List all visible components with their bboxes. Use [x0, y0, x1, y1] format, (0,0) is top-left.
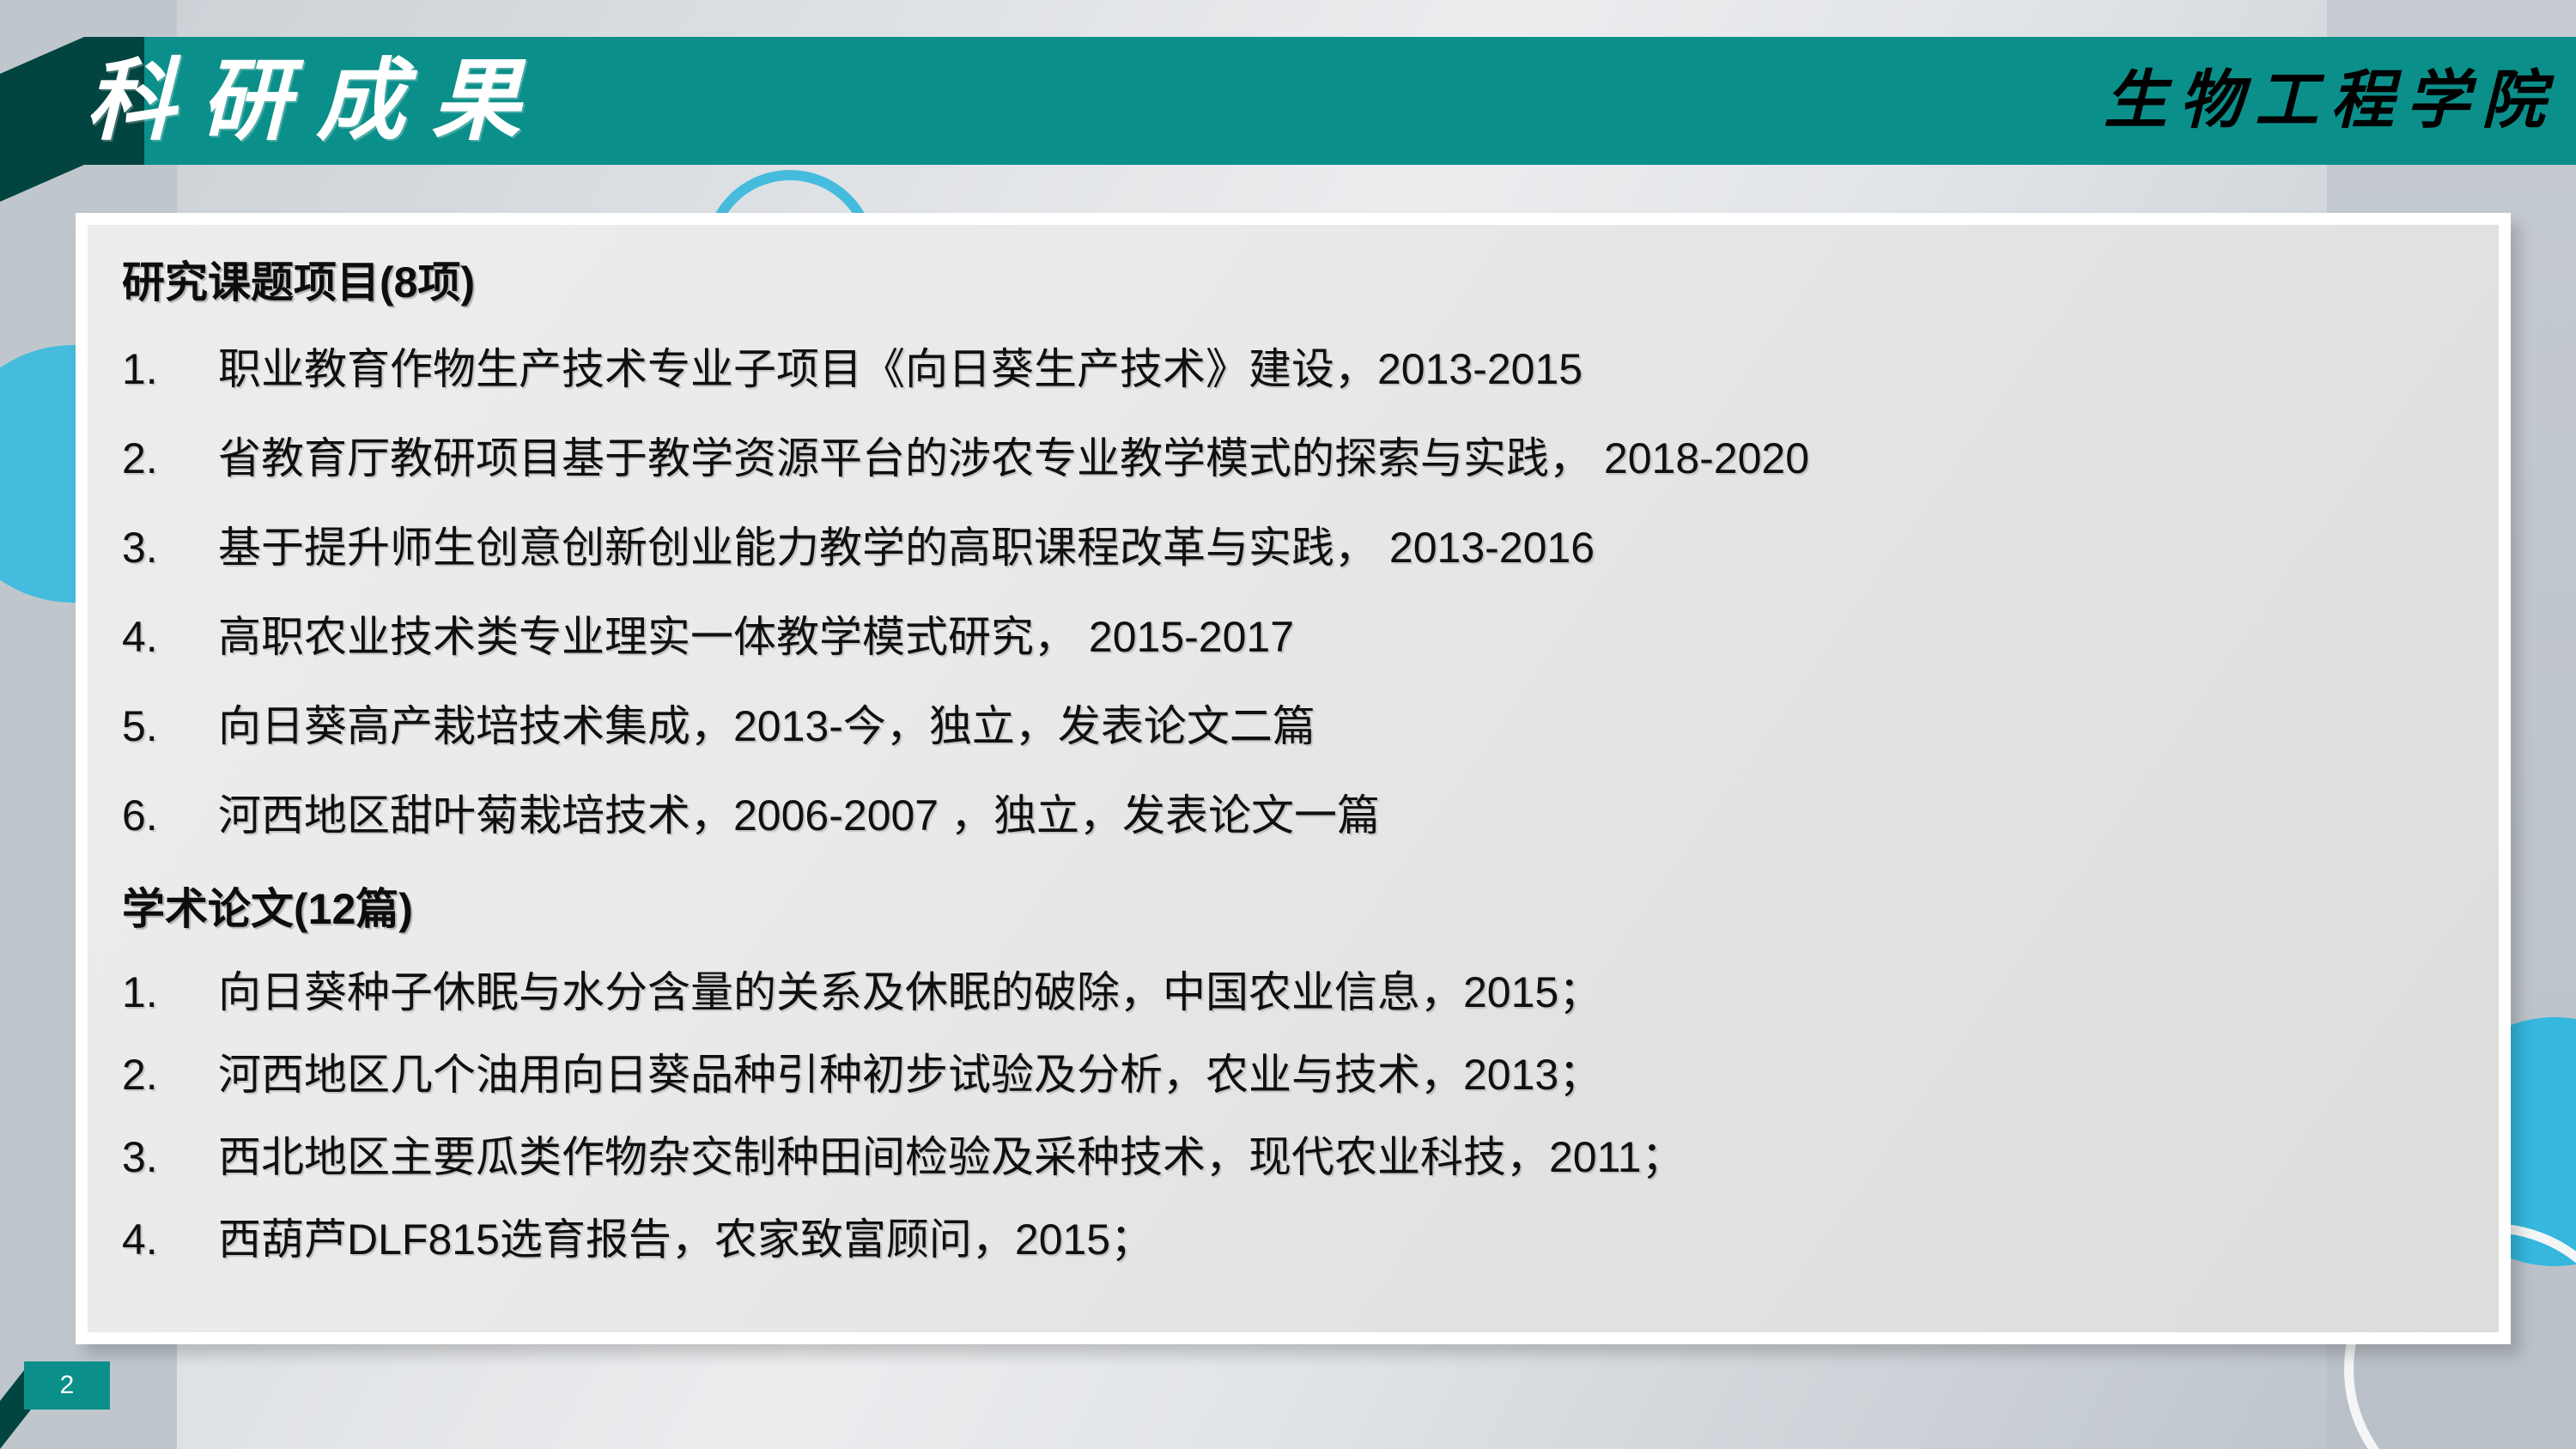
list-item-marker: 6.	[122, 771, 218, 860]
list-item-text: 河西地区几个油用向日葵品种引种初步试验及分析，农业与技术，2013；	[218, 1034, 2478, 1116]
list-item-marker: 2.	[122, 1034, 218, 1116]
list-item-marker: 5.	[122, 682, 218, 771]
content-card-inner: 研究课题项目(8项) 1. 职业教育作物生产技术专业子项目《向日葵生产技术》建设…	[88, 225, 2499, 1332]
content-body: 研究课题项目(8项) 1. 职业教育作物生产技术专业子项目《向日葵生产技术》建设…	[122, 246, 2478, 1281]
paper-list: 1. 向日葵种子休眠与水分含量的关系及休眠的破除，中国农业信息，2015； 2.…	[122, 951, 2478, 1281]
list-item-text: 西北地区主要瓜类作物杂交制种田间检验及采种技术，现代农业科技，2011；	[218, 1116, 2478, 1198]
list-item-text: 基于提升师生创意创新创业能力教学的高职课程改革与实践， 2013-2016	[218, 503, 2478, 592]
list-item-marker: 2.	[122, 414, 218, 503]
list-item-marker: 4.	[122, 1198, 218, 1281]
section-heading-projects: 研究课题项目(8项)	[122, 246, 2478, 319]
list-item: 5. 向日葵高产栽培技术集成，2013-今，独立，发表论文二篇	[122, 682, 2478, 771]
list-item-text: 职业教育作物生产技术专业子项目《向日葵生产技术》建设，2013-2015	[218, 324, 2478, 414]
list-item-marker: 3.	[122, 503, 218, 592]
list-item-text: 省教育厅教研项目基于教学资源平台的涉农专业教学模式的探索与实践， 2018-20…	[218, 414, 2478, 503]
list-item: 4. 高职农业技术类专业理实一体教学模式研究， 2015-2017	[122, 592, 2478, 682]
page-number-badge: 2	[24, 1361, 110, 1410]
section-heading-papers: 学术论文(12篇)	[122, 872, 2478, 946]
list-item: 1. 职业教育作物生产技术专业子项目《向日葵生产技术》建设，2013-2015	[122, 324, 2478, 414]
list-item-text: 向日葵高产栽培技术集成，2013-今，独立，发表论文二篇	[218, 682, 2478, 771]
list-item: 3. 基于提升师生创意创新创业能力教学的高职课程改革与实践， 2013-2016	[122, 503, 2478, 592]
list-item-text: 河西地区甜叶菊栽培技术，2006-2007 ，独立，发表论文一篇	[218, 771, 2478, 860]
list-item-marker: 3.	[122, 1116, 218, 1198]
list-item: 3. 西北地区主要瓜类作物杂交制种田间检验及采种技术，现代农业科技，2011；	[122, 1116, 2478, 1198]
content-card: 研究课题项目(8项) 1. 职业教育作物生产技术专业子项目《向日葵生产技术》建设…	[76, 213, 2511, 1344]
list-item-marker: 1.	[122, 951, 218, 1034]
header-banner: 科研成果 生物工程学院	[0, 0, 2576, 170]
list-item-marker: 1.	[122, 324, 218, 414]
list-item: 2. 省教育厅教研项目基于教学资源平台的涉农专业教学模式的探索与实践， 2018…	[122, 414, 2478, 503]
department-name: 生物工程学院	[2104, 52, 2557, 149]
list-item-text: 向日葵种子休眠与水分含量的关系及休眠的破除，中国农业信息，2015；	[218, 951, 2478, 1034]
page-title: 科研成果	[86, 40, 546, 161]
list-item: 4. 西葫芦DLF815选育报告，农家致富顾问，2015；	[122, 1198, 2478, 1281]
list-item: 6. 河西地区甜叶菊栽培技术，2006-2007 ，独立，发表论文一篇	[122, 771, 2478, 860]
project-list: 1. 职业教育作物生产技术专业子项目《向日葵生产技术》建设，2013-2015 …	[122, 324, 2478, 860]
list-item: 1. 向日葵种子休眠与水分含量的关系及休眠的破除，中国农业信息，2015；	[122, 951, 2478, 1034]
list-item-text: 西葫芦DLF815选育报告，农家致富顾问，2015；	[218, 1198, 2478, 1281]
list-item-text: 高职农业技术类专业理实一体教学模式研究， 2015-2017	[218, 592, 2478, 682]
list-item-marker: 4.	[122, 592, 218, 682]
list-item: 2. 河西地区几个油用向日葵品种引种初步试验及分析，农业与技术，2013；	[122, 1034, 2478, 1116]
slide-canvas: 科研成果 生物工程学院 研究课题项目(8项) 1. 职业教育作物生产技术专业子项…	[0, 0, 2576, 1449]
